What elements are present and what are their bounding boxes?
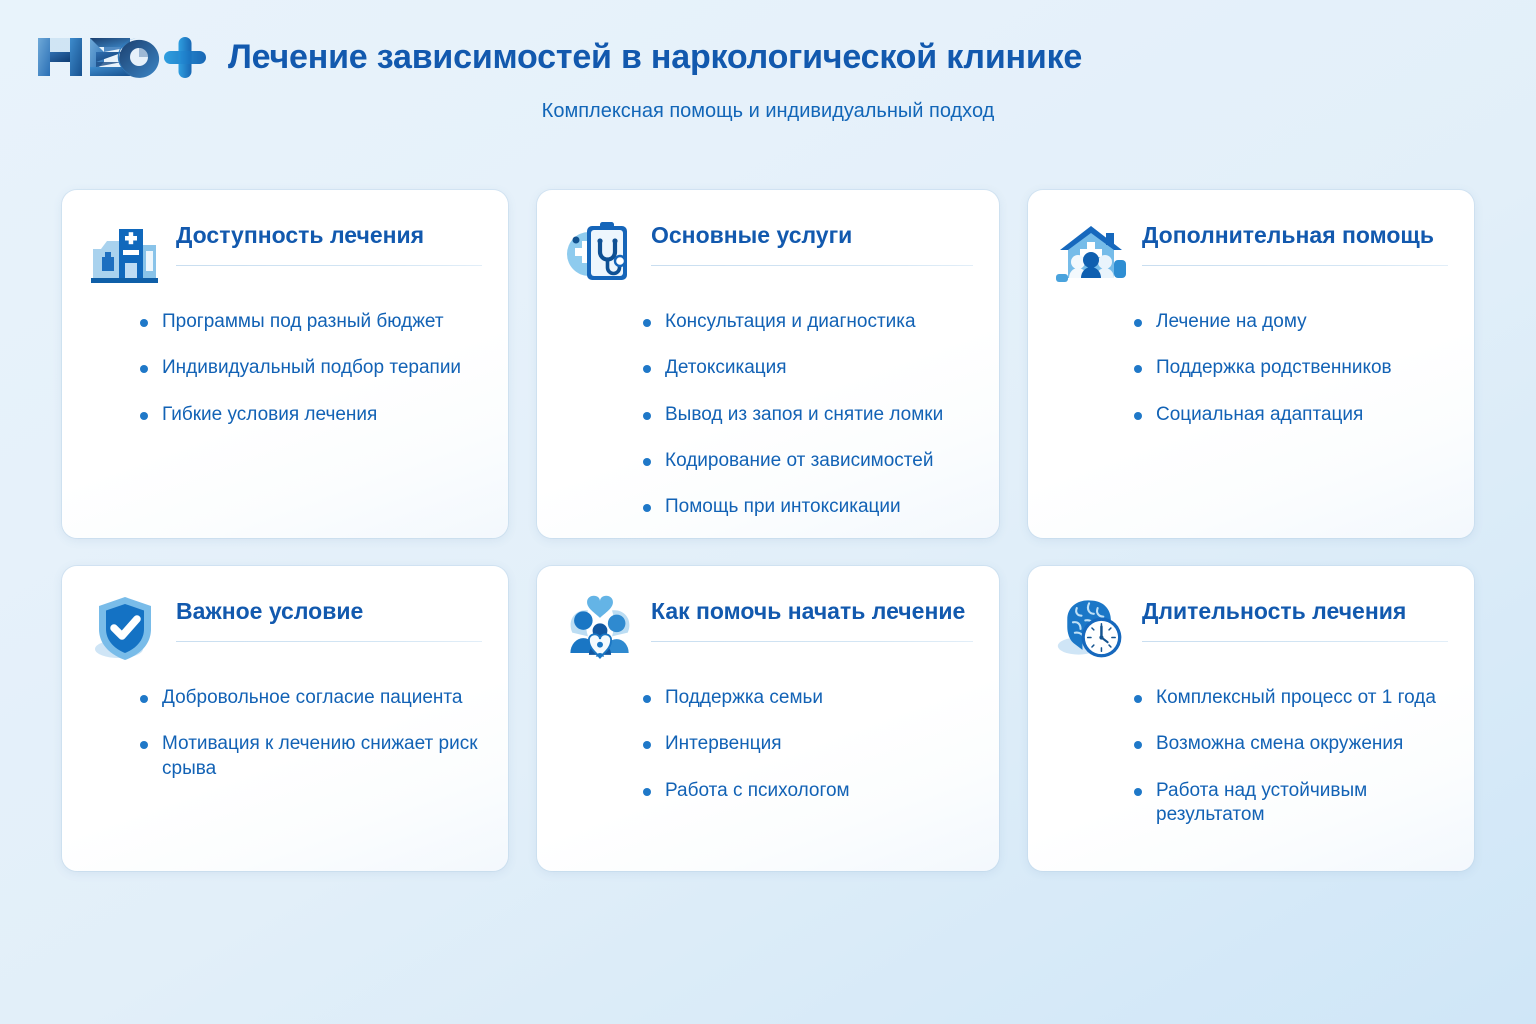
cards-grid: Доступность лечения Программы под разный… bbox=[62, 190, 1474, 871]
list-item: Детоксикация bbox=[643, 356, 973, 380]
list-item: Добровольное согласие пациента bbox=[140, 686, 482, 710]
card-head-text: Дополнительная помощь bbox=[1142, 214, 1448, 266]
title-divider bbox=[1142, 641, 1448, 642]
card-title: Как помочь начать лечение bbox=[651, 598, 973, 624]
brain-clock-icon bbox=[1054, 592, 1128, 664]
hospital-building-icon bbox=[88, 216, 162, 288]
card-header: Как помочь начать лечение bbox=[563, 590, 973, 664]
bullet-list: Консультация и диагностика Детоксикация … bbox=[563, 310, 973, 520]
card-title: Основные услуги bbox=[651, 222, 973, 248]
card-title: Доступность лечения bbox=[176, 222, 482, 248]
card-header: Длительность лечения bbox=[1054, 590, 1448, 664]
card-how-to-start[interactable]: Как помочь начать лечение Поддержка семь… bbox=[537, 566, 999, 871]
list-item: Гибкие условия лечения bbox=[140, 403, 482, 427]
title-divider bbox=[176, 265, 482, 266]
title-divider bbox=[176, 641, 482, 642]
card-header: Важное условие bbox=[88, 590, 482, 664]
card-important-condition[interactable]: Важное условие Добровольное согласие пац… bbox=[62, 566, 508, 871]
card-availability[interactable]: Доступность лечения Программы под разный… bbox=[62, 190, 508, 538]
bullet-list: Комплексный процесс от 1 года Возможна с… bbox=[1054, 686, 1448, 827]
house-family-icon bbox=[1054, 216, 1128, 288]
list-item: Помощь при интоксикации bbox=[643, 495, 973, 519]
card-head-text: Длительность лечения bbox=[1142, 590, 1448, 642]
card-head-text: Как помочь начать лечение bbox=[651, 590, 973, 642]
page-subtitle: Комплексная помощь и индивидуальный подх… bbox=[542, 100, 995, 122]
neo-plus-logo bbox=[34, 32, 210, 82]
list-item: Работа над устойчивым результатом bbox=[1134, 779, 1448, 828]
list-item: Кодирование от зависимостей bbox=[643, 449, 973, 473]
list-item: Вывод из запоя и снятие ломки bbox=[643, 403, 973, 427]
subtitle-container: Комплексная помощь и индивидуальный подх… bbox=[0, 100, 1536, 123]
family-heart-icon bbox=[563, 592, 637, 664]
title-divider bbox=[651, 265, 973, 266]
title-divider bbox=[1142, 265, 1448, 266]
clipboard-stethoscope-icon bbox=[563, 216, 637, 288]
list-item: Индивидуальный подбор терапии bbox=[140, 356, 482, 380]
card-additional-help[interactable]: Дополнительная помощь Лечение на дому По… bbox=[1028, 190, 1474, 538]
list-item: Интервенция bbox=[643, 732, 973, 756]
list-item: Программы под разный бюджет bbox=[140, 310, 482, 334]
list-item: Мотивация к лечению снижает риск срыва bbox=[140, 732, 482, 781]
card-title: Длительность лечения bbox=[1142, 598, 1448, 624]
card-header: Дополнительная помощь bbox=[1054, 214, 1448, 288]
bullet-list: Лечение на дому Поддержка родственников … bbox=[1054, 310, 1448, 427]
card-title: Дополнительная помощь bbox=[1142, 222, 1448, 248]
card-main-services[interactable]: Основные услуги Консультация и диагности… bbox=[537, 190, 999, 538]
bullet-list: Добровольное согласие пациента Мотивация… bbox=[88, 686, 482, 781]
list-item: Возможна смена окружения bbox=[1134, 732, 1448, 756]
list-item: Социальная адаптация bbox=[1134, 403, 1448, 427]
card-treatment-duration[interactable]: Длительность лечения Комплексный процесс… bbox=[1028, 566, 1474, 871]
list-item: Комплексный процесс от 1 года bbox=[1134, 686, 1448, 710]
card-header: Доступность лечения bbox=[88, 214, 482, 288]
list-item: Работа с психологом bbox=[643, 779, 973, 803]
title-divider bbox=[651, 641, 973, 642]
list-item: Консультация и диагностика bbox=[643, 310, 973, 334]
card-head-text: Важное условие bbox=[176, 590, 482, 642]
card-head-text: Основные услуги bbox=[651, 214, 973, 266]
card-header: Основные услуги bbox=[563, 214, 973, 288]
card-title: Важное условие bbox=[176, 598, 482, 624]
list-item: Поддержка родственников bbox=[1134, 356, 1448, 380]
card-head-text: Доступность лечения bbox=[176, 214, 482, 266]
shield-check-icon bbox=[88, 592, 162, 664]
list-item: Поддержка семьи bbox=[643, 686, 973, 710]
page-title: Лечение зависимостей в наркологической к… bbox=[228, 38, 1082, 77]
bullet-list: Поддержка семьи Интервенция Работа с пси… bbox=[563, 686, 973, 803]
page-header: Лечение зависимостей в наркологической к… bbox=[0, 0, 1536, 82]
bullet-list: Программы под разный бюджет Индивидуальн… bbox=[88, 310, 482, 427]
list-item: Лечение на дому bbox=[1134, 310, 1448, 334]
